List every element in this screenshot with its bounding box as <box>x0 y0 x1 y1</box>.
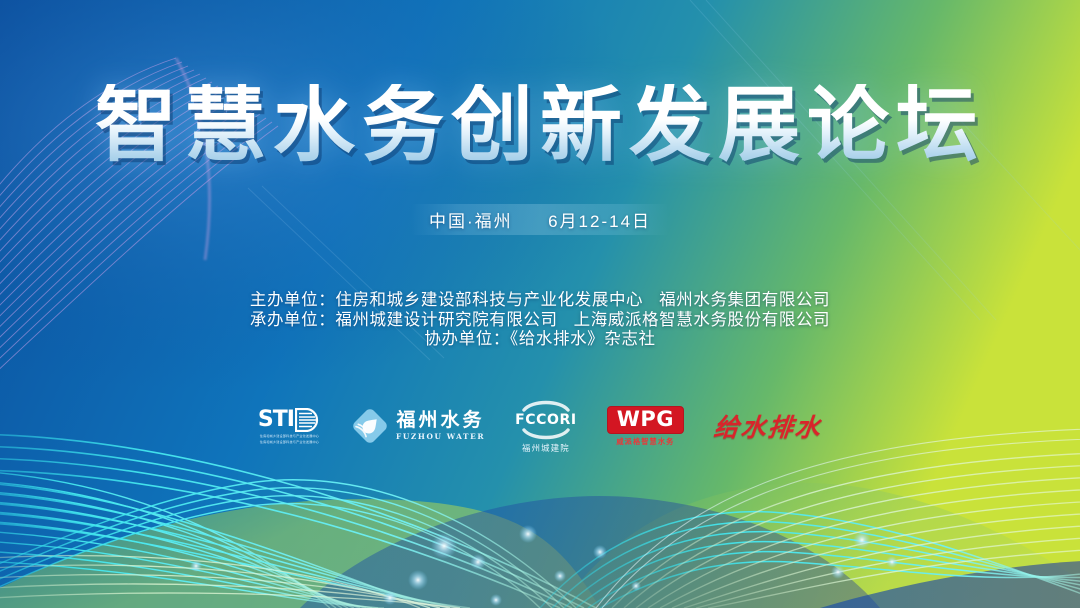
fccori-wordmark: FCCORI <box>515 413 577 427</box>
wpg-cn: 威派格智慧水务 <box>616 437 674 447</box>
organizer-name-undertaker-2: 上海威派格智慧水务股份有限公司 <box>574 311 831 329</box>
fccori-arc-top-icon <box>518 399 574 412</box>
organizer-line-coorganizer: 协办单位：《给水排水》杂志社 <box>0 330 1080 350</box>
stid-caption-line-2: 住房和城乡建设部科技与产业化发展中心 <box>260 440 319 444</box>
logo-fccori: FCCORI 福州城建院 <box>515 398 577 454</box>
logo-water-and-wastewater: 给水排水 <box>714 398 822 454</box>
event-meta: 中国·福州 6月12-14日 <box>411 204 669 235</box>
water-and-wastewater-wordmark: 给水排水 <box>712 408 824 444</box>
logo-fuzhou-water: 福州水务 FUZHOU WATER <box>351 398 485 454</box>
page-title: 智慧水务创新发展论坛 <box>95 84 985 168</box>
event-dates: 6月12-14日 <box>548 212 651 231</box>
organizer-name-host-1: 住房和城乡建设部科技与产业化发展中心 <box>335 291 643 309</box>
stid-caption-line-1: 住房和城乡建设部科技与产业化发展中心 <box>260 434 319 438</box>
fuzhou-water-cn: 福州水务 <box>397 411 485 430</box>
stid-mark: STI <box>258 408 321 432</box>
fccori-cn: 福州城建院 <box>522 442 570 454</box>
organizer-role-host: 主办单位： <box>250 291 336 309</box>
title-block: 智慧水务创新发展论坛 <box>0 84 1080 168</box>
fccori-arc-bottom-icon <box>518 428 574 441</box>
logo-wpg: WPG 威派格智慧水务 <box>607 398 684 454</box>
wpg-wordmark: WPG <box>617 409 674 430</box>
fuzhou-water-drop-icon <box>351 407 389 445</box>
organizer-line-undertaker: 承办单位：福州城建设计研究院有限公司上海威派格智慧水务股份有限公司 <box>0 311 1080 331</box>
stid-wordmark: STI <box>258 409 294 431</box>
organizer-role-undertaker: 承办单位： <box>250 311 336 329</box>
conference-poster: 智慧水务创新发展论坛 中国·福州 6月12-14日 主办单位：住房和城乡建设部科… <box>0 0 1080 608</box>
organizer-role-coorganizer: 协办单位： <box>424 330 510 348</box>
stid-d-icon <box>295 408 321 432</box>
organizer-name-host-2: 福州水务集团有限公司 <box>659 291 830 309</box>
fuzhou-water-en: FUZHOU WATER <box>396 433 485 440</box>
logo-strip: STI 住房和城乡建设部科技与产业化发展中心 住房和城乡建设部科技与产业化发展中… <box>0 398 1080 454</box>
organizers-block: 主办单位：住房和城乡建设部科技与产业化发展中心福州水务集团有限公司 承办单位：福… <box>0 291 1080 350</box>
logo-stid: STI 住房和城乡建设部科技与产业化发展中心 住房和城乡建设部科技与产业化发展中… <box>258 398 321 454</box>
organizer-line-host: 主办单位：住房和城乡建设部科技与产业化发展中心福州水务集团有限公司 <box>0 291 1080 311</box>
organizer-name-undertaker-1: 福州城建设计研究院有限公司 <box>335 311 557 329</box>
fuzhou-water-wordmark: 福州水务 FUZHOU WATER <box>396 411 485 440</box>
wpg-badge: WPG <box>607 406 684 434</box>
event-location: 中国·福州 <box>429 212 513 231</box>
organizer-name-coorganizer-1: 《给水排水》杂志社 <box>510 330 656 348</box>
subtitle-block: 中国·福州 6月12-14日 <box>0 204 1080 235</box>
